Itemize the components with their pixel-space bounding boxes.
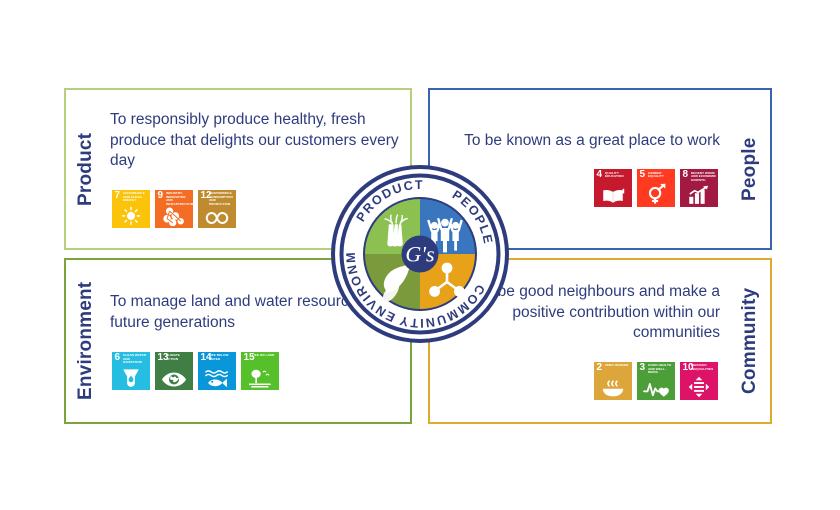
infinity-icon — [204, 210, 230, 226]
panel-label-people: People — [730, 90, 770, 248]
bowl-icon — [601, 378, 626, 398]
sdg-number: 6 — [115, 353, 121, 363]
sdg-tile-14[interactable]: 14 Life Below Water — [198, 352, 236, 390]
sdg-number: 7 — [115, 191, 121, 201]
panel-label-environment: Environment — [66, 260, 106, 422]
tree-birds-icon — [248, 368, 273, 388]
sdg-title: Zero Hunger — [605, 364, 631, 368]
sdg-title: Responsible Consumption and Production — [209, 192, 235, 206]
cubes-icon — [163, 206, 186, 226]
sdg-number: 9 — [158, 191, 164, 201]
sdg-row-environment: 6 Clean Water and Sanitation 13 Climate … — [110, 352, 400, 390]
sdg-title: Reduced Inequalities — [691, 364, 717, 371]
sdg-number: 4 — [597, 170, 603, 180]
sdg-tile-3[interactable]: 3 Good Health and Well-Being — [637, 362, 675, 400]
book-icon — [601, 187, 625, 205]
diagram-canvas: Product To responsibly produce healthy, … — [0, 0, 840, 510]
sdg-tile-12[interactable]: 12 Responsible Consumption and Productio… — [198, 190, 236, 228]
sdg-title: Gender Equality — [648, 172, 674, 179]
sdg-tile-4[interactable]: 4 Quality Education — [594, 169, 632, 207]
eye-earth-icon — [162, 371, 187, 388]
panel-label-community: Community — [730, 260, 770, 422]
sdg-number: 2 — [597, 363, 603, 373]
heartbeat-icon — [643, 380, 669, 398]
center-sustainability-logo[interactable]: G's PRODUCT PEOPLE COMMUNITY ENVIRONMENT — [329, 163, 511, 345]
sdg-title: Industry, Innovation and Infrastructure — [166, 192, 192, 206]
sdg-number: 3 — [640, 363, 646, 373]
sdg-title: Good Health and Well-Being — [648, 364, 674, 375]
sdg-tile-6[interactable]: 6 Clean Water and Sanitation — [112, 352, 150, 390]
sdg-title: Clean Water and Sanitation — [123, 354, 149, 365]
sdg-title: Life on Land — [252, 354, 278, 358]
sdg-tile-9[interactable]: 9 Industry, Innovation and Infrastructur… — [155, 190, 193, 228]
sdg-number: 5 — [640, 170, 646, 180]
sdg-title: Life Below Water — [209, 354, 235, 361]
growth-chart-icon — [688, 185, 711, 205]
panel-label-product: Product — [66, 90, 106, 248]
sdg-tile-2[interactable]: 2 Zero Hunger — [594, 362, 632, 400]
sdg-tile-10[interactable]: 10 Reduced Inequalities — [680, 362, 718, 400]
sdg-tile-8[interactable]: 8 Decent Work and Economic Growth — [680, 169, 718, 207]
sdg-number: 8 — [683, 170, 689, 180]
sdg-title: Quality Education — [605, 172, 631, 179]
sdg-tile-15[interactable]: 15 Life on Land — [241, 352, 279, 390]
sdg-title: Decent Work and Economic Growth — [691, 172, 717, 183]
gender-icon — [645, 183, 667, 205]
sdg-tile-13[interactable]: 13 Climate Action — [155, 352, 193, 390]
sdg-title: Affordable and Clean Energy — [123, 192, 149, 203]
sdg-row-community: 2 Zero Hunger 3 Good Health and Well-Bei… — [434, 362, 720, 400]
water-drop-icon — [121, 367, 141, 388]
sdg-title: Climate Action — [166, 354, 192, 361]
fish-icon — [204, 369, 230, 388]
equality-arrows-icon — [688, 376, 711, 398]
panel-statement-people: To be known as a great place to work — [434, 131, 720, 152]
sdg-tile-7[interactable]: 7 Affordable and Clean Energy — [112, 190, 150, 228]
sdg-tile-5[interactable]: 5 Gender Equality — [637, 169, 675, 207]
sun-icon — [120, 204, 142, 226]
brand-text: G's — [405, 242, 434, 267]
